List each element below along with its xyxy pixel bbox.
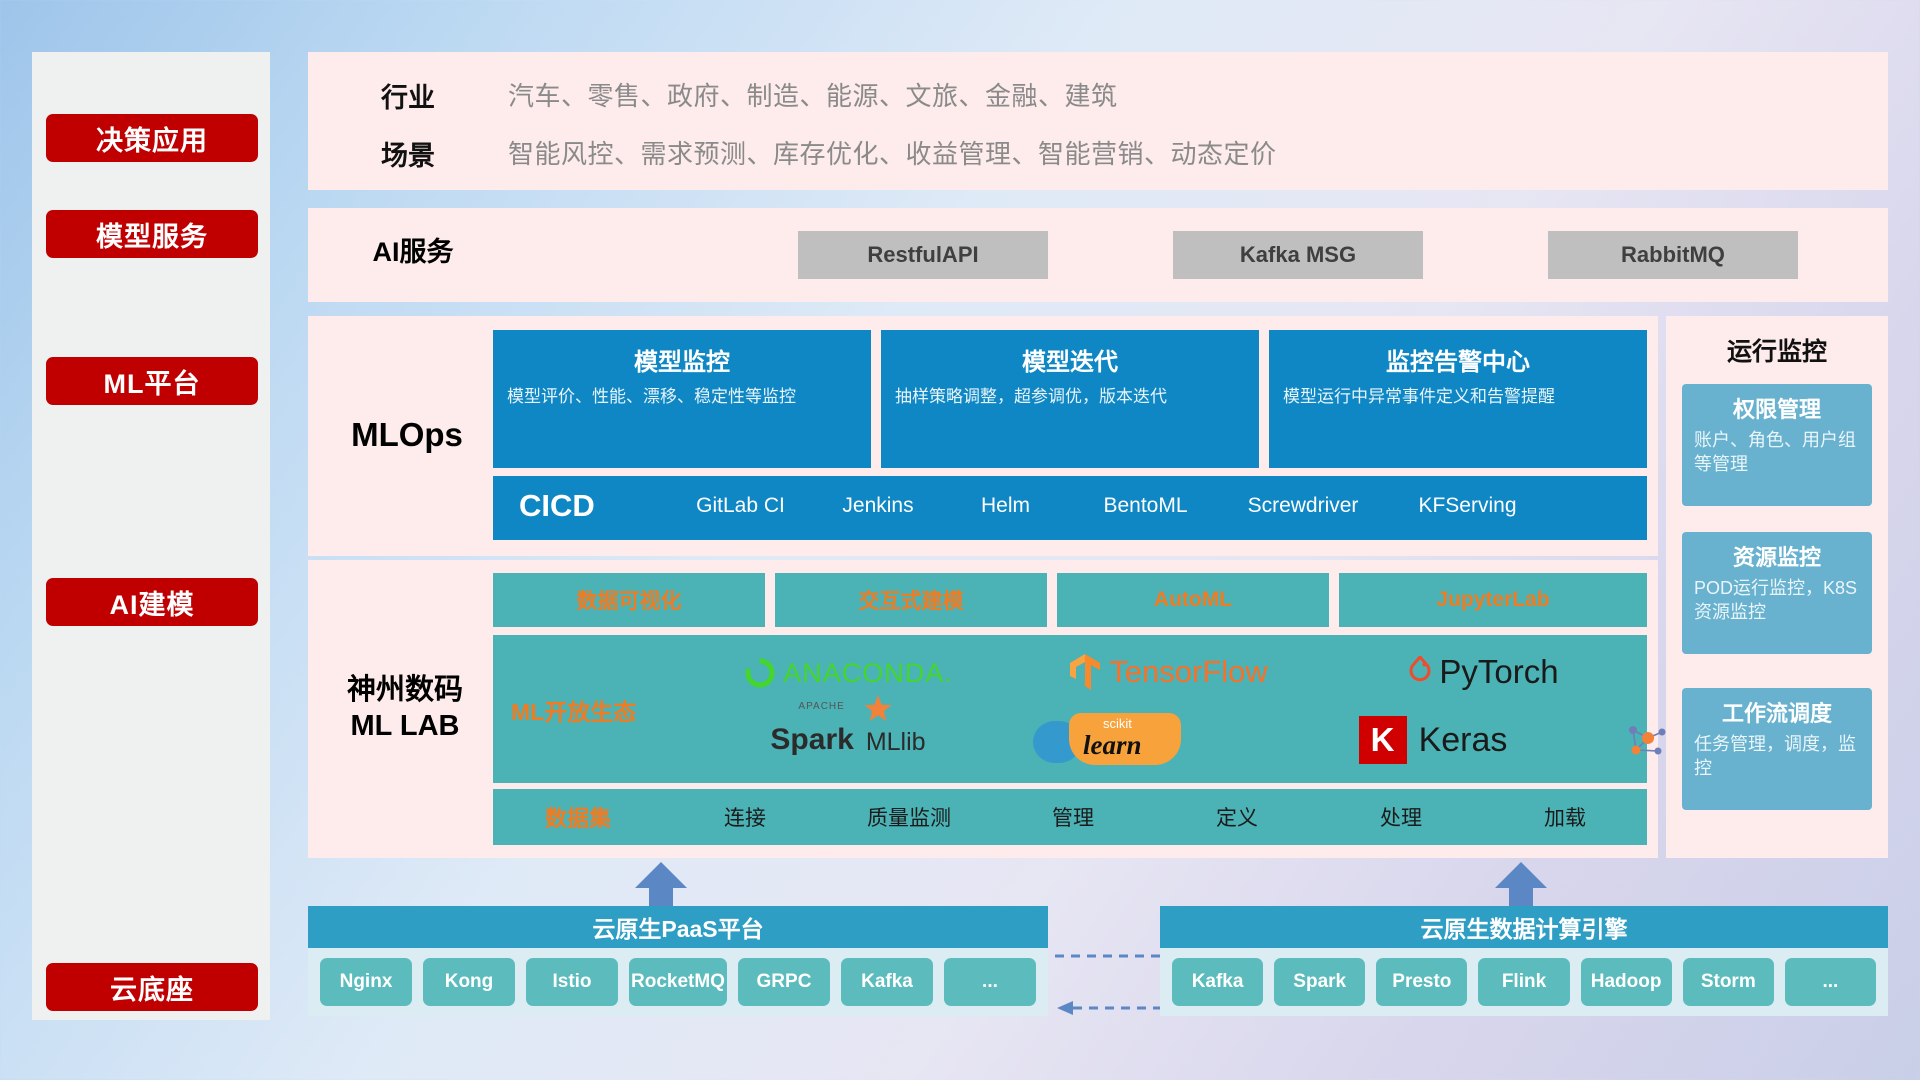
industry-text: 汽车、零售、政府、制造、能源、文旅、金融、建筑 — [508, 76, 1118, 113]
tab-label: 交互式建模 — [859, 585, 964, 615]
rail-label: ML平台 — [104, 362, 201, 401]
learn-text: learn — [1083, 730, 1142, 761]
anaconda-text: ANACONDA. — [783, 658, 953, 689]
tensorflow-text: TensorFlow — [1109, 654, 1268, 690]
mlops-band: MLOps 模型监控 模型评价、性能、漂移、稳定性等监控 模型迭代 抽样策略调整… — [308, 316, 1658, 556]
dataset-item-definition[interactable]: 定义 — [1155, 802, 1319, 832]
card-title: 监控告警中心 — [1283, 342, 1633, 377]
rail-label: 云底座 — [110, 968, 194, 1007]
dataset-item-management[interactable]: 管理 — [991, 802, 1155, 832]
card-desc: POD运行监控，K8S资源监控 — [1694, 576, 1860, 625]
monitoring-card-workflow[interactable]: 工作流调度 任务管理，调度，监控 — [1682, 688, 1872, 810]
up-arrow-compute-icon — [1495, 862, 1547, 908]
compute-chip-spark[interactable]: Spark — [1274, 958, 1365, 1006]
ai-service-chip-restfulapi[interactable]: RestfulAPI — [798, 231, 1048, 279]
architecture-diagram: 决策应用 模型服务 ML平台 AI建模 云底座 行业 汽车、零售、政府、制造、能… — [0, 0, 1920, 1080]
cicd-item-bentoml[interactable]: BentoML — [1073, 476, 1218, 518]
ml-ecosystem-label: ML开放生态 — [511, 693, 636, 727]
paas-chip-kong[interactable]: Kong — [423, 958, 515, 1006]
compute-chip-more[interactable]: ... — [1785, 958, 1876, 1006]
spark-text: Spark — [770, 723, 853, 757]
ml-lab-tab-automl[interactable]: AutoML — [1057, 573, 1329, 627]
scikit-learn-logo: scikit learn — [998, 709, 1258, 771]
ai-service-band: AI服务 RestfulAPI Kafka MSG RabbitMQ Web服务 — [308, 208, 1888, 302]
ai-service-chip-kafka-msg[interactable]: Kafka MSG — [1173, 231, 1423, 279]
monitoring-title: 运行监控 — [1666, 332, 1888, 368]
cicd-item-kfserving[interactable]: KFServing — [1388, 476, 1547, 518]
ml-lab-tab-interactive-modeling[interactable]: 交互式建模 — [775, 573, 1047, 627]
paas-chip-grpc[interactable]: GRPC — [738, 958, 830, 1006]
ai-service-chip-rabbitmq[interactable]: RabbitMQ — [1548, 231, 1798, 279]
paas-chip-istio[interactable]: Istio — [526, 958, 618, 1006]
anaconda-logo: ANACONDA. — [698, 645, 998, 701]
card-desc: 模型评价、性能、漂移、稳定性等监控 — [507, 385, 857, 410]
paas-platform-title: 云原生PaaS平台 — [308, 906, 1048, 948]
data-compute-engine-title: 云原生数据计算引擎 — [1160, 906, 1888, 948]
cicd-item-gitlab-ci[interactable]: GitLab CI — [663, 476, 818, 518]
ml-lab-label-line2: ML LAB — [316, 708, 494, 744]
keras-text: Keras — [1419, 721, 1508, 760]
cicd-item-screwdriver[interactable]: Screwdriver — [1218, 476, 1388, 518]
rail-item-model-service[interactable]: 模型服务 — [46, 210, 258, 258]
left-rail: 决策应用 模型服务 ML平台 AI建模 云底座 — [32, 52, 270, 1020]
compute-chip-kafka[interactable]: Kafka — [1172, 958, 1263, 1006]
dataset-item-loading[interactable]: 加载 — [1483, 802, 1647, 832]
tab-label: JupyterLab — [1436, 588, 1549, 612]
rail-item-ml-platform[interactable]: ML平台 — [46, 357, 258, 405]
paas-chip-kafka[interactable]: Kafka — [841, 958, 933, 1006]
dataset-row: 数据集 连接 质量监测 管理 定义 处理 加载 — [493, 789, 1647, 845]
up-arrow-paas-icon — [635, 862, 687, 908]
rail-item-decision-app[interactable]: 决策应用 — [46, 114, 258, 162]
monitoring-card-permission[interactable]: 权限管理 账户、角色、用户组等管理 — [1682, 384, 1872, 506]
rail-label: 决策应用 — [96, 119, 208, 158]
keras-logo: K Keras — [1283, 709, 1583, 771]
cicd-item-jenkins[interactable]: Jenkins — [818, 476, 938, 518]
tab-label: 数据可视化 — [577, 585, 682, 615]
mlops-card-model-monitoring[interactable]: 模型监控 模型评价、性能、漂移、稳定性等监控 — [493, 330, 871, 468]
cicd-bar: CICD GitLab CI Jenkins Helm BentoML Scre… — [493, 476, 1647, 540]
rail-item-ai-modeling[interactable]: AI建模 — [46, 578, 258, 626]
chip-label: RestfulAPI — [867, 242, 978, 268]
ml-lab-label: 神州数码 ML LAB — [316, 672, 494, 745]
monitoring-column: 运行监控 权限管理 账户、角色、用户组等管理 资源监控 POD运行监控，K8S资… — [1666, 316, 1888, 858]
paas-chip-rocketmq[interactable]: RocketMQ — [629, 958, 727, 1006]
monitoring-card-resource[interactable]: 资源监控 POD运行监控，K8S资源监控 — [1682, 532, 1872, 654]
keras-mark: K — [1359, 716, 1407, 764]
chip-label: RabbitMQ — [1621, 242, 1725, 268]
paas-chip-more[interactable]: ... — [944, 958, 1036, 1006]
ml-lab-band: 神州数码 ML LAB 数据可视化 交互式建模 AutoML JupyterLa… — [308, 560, 1658, 858]
mlops-label: MLOps — [322, 414, 492, 455]
cicd-label: CICD — [493, 476, 663, 524]
dataset-label: 数据集 — [493, 801, 663, 833]
rail-item-cloud-base[interactable]: 云底座 — [46, 963, 258, 1011]
pytorch-text: PyTorch — [1439, 653, 1558, 691]
mlops-card-alert-center[interactable]: 监控告警中心 模型运行中异常事件定义和告警提醒 — [1269, 330, 1647, 468]
card-title: 工作流调度 — [1694, 696, 1860, 728]
mllib-text: MLlib — [866, 728, 926, 757]
dataset-item-quality-monitoring[interactable]: 质量监测 — [827, 802, 991, 832]
paas-chip-nginx[interactable]: Nginx — [320, 958, 412, 1006]
compute-chip-row: Kafka Spark Presto Flink Hadoop Storm ..… — [1160, 948, 1888, 1016]
compute-chip-storm[interactable]: Storm — [1683, 958, 1774, 1006]
dataset-item-connect[interactable]: 连接 — [663, 802, 827, 832]
ai-service-label: AI服务 — [348, 230, 478, 269]
chip-label: Kafka MSG — [1240, 242, 1356, 268]
compute-chip-presto[interactable]: Presto — [1376, 958, 1467, 1006]
card-desc: 账户、角色、用户组等管理 — [1694, 428, 1860, 477]
ml-lab-label-line1: 神州数码 — [316, 672, 494, 708]
industry-label: 行业 — [348, 76, 468, 115]
card-title: 资源监控 — [1694, 540, 1860, 572]
spark-apache-text: APACHE — [798, 701, 844, 712]
scenario-text: 智能风控、需求预测、库存优化、收益管理、智能营销、动态定价 — [508, 134, 1277, 171]
paas-platform-group: 云原生PaaS平台 Nginx Kong Istio RocketMQ GRPC… — [308, 906, 1048, 1016]
compute-chip-hadoop[interactable]: Hadoop — [1581, 958, 1672, 1006]
card-title: 模型监控 — [507, 342, 857, 377]
paas-chip-row: Nginx Kong Istio RocketMQ GRPC Kafka ... — [308, 948, 1048, 1016]
decision-app-band: 行业 汽车、零售、政府、制造、能源、文旅、金融、建筑 场景 智能风控、需求预测、… — [308, 52, 1888, 190]
tensorflow-logo: TensorFlow — [998, 643, 1338, 701]
spark-mllib-logo: APACHE Spark MLlib — [698, 709, 998, 771]
card-title: 模型迭代 — [895, 342, 1245, 377]
tab-label: AutoML — [1154, 588, 1232, 612]
ml-lab-tab-jupyterlab[interactable]: JupyterLab — [1339, 573, 1647, 627]
rail-label: 模型服务 — [96, 215, 208, 254]
card-desc: 任务管理，调度，监控 — [1694, 732, 1860, 781]
ml-ecosystem-panel: ML开放生态 ANACONDA. TensorFlow PyTorch sas — [493, 635, 1647, 783]
cicd-item-helm[interactable]: Helm — [938, 476, 1073, 518]
scikit-text: scikit — [1103, 716, 1132, 731]
pytorch-logo: PyTorch — [1348, 643, 1618, 701]
card-title: 权限管理 — [1694, 392, 1860, 424]
data-compute-engine-group: 云原生数据计算引擎 Kafka Spark Presto Flink Hadoo… — [1160, 906, 1888, 1016]
mlops-card-model-iteration[interactable]: 模型迭代 抽样策略调整，超参调优，版本迭代 — [881, 330, 1259, 468]
ml-lab-tab-data-visualization[interactable]: 数据可视化 — [493, 573, 765, 627]
scenario-label: 场景 — [348, 134, 468, 173]
dataset-item-processing[interactable]: 处理 — [1319, 802, 1483, 832]
rail-label: AI建模 — [110, 583, 195, 622]
card-desc: 抽样策略调整，超参调优，版本迭代 — [895, 385, 1245, 410]
card-desc: 模型运行中异常事件定义和告警提醒 — [1283, 385, 1633, 410]
compute-chip-flink[interactable]: Flink — [1478, 958, 1569, 1006]
